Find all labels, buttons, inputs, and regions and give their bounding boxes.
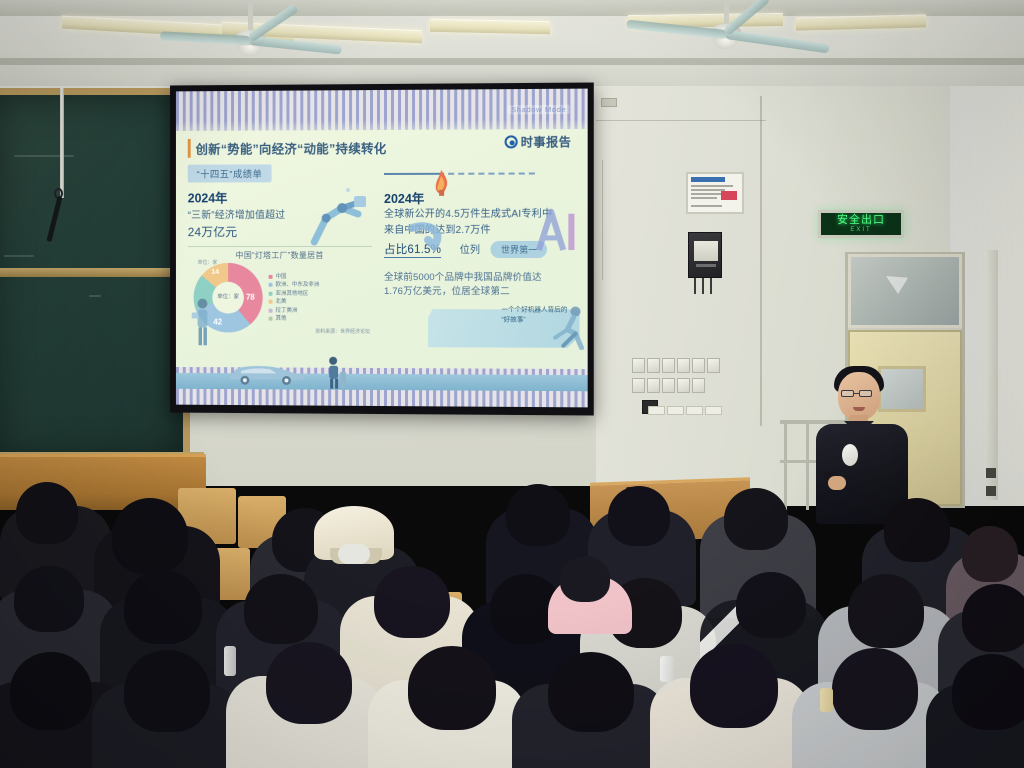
student-head <box>608 486 670 546</box>
student-head <box>16 482 78 544</box>
projection-screen: 创新“势能”向经济“动能”持续转化 Shadow Mode 时事报告 “十四五”… <box>170 82 594 415</box>
slide-content: 创新“势能”向经济“动能”持续转化 Shadow Mode 时事报告 “十四五”… <box>176 129 588 369</box>
right-para2-line1: 全球前5000个品牌中我国品牌价值达 <box>384 271 575 285</box>
student-head <box>124 650 210 732</box>
meter-wire <box>702 278 704 294</box>
student-head <box>952 654 1024 730</box>
exit-sign: 安全出口 EXIT <box>818 210 904 238</box>
donut-value-0: 78 <box>246 293 255 302</box>
person-illustration <box>190 297 216 349</box>
student-head <box>560 556 610 602</box>
legend-item: 拉丁美洲 <box>269 306 320 315</box>
wall-seam <box>760 96 762 426</box>
donut-value-2: 14 <box>211 269 219 276</box>
student-head <box>690 644 778 728</box>
student-head <box>832 648 918 730</box>
legend-item: 欧洲、中东及非洲 <box>269 281 320 290</box>
runner-illustration <box>551 303 588 350</box>
legend-item: 中国 <box>269 272 320 281</box>
slide-left-column: “十四五”成绩单 2024年 “三新”经济增加值超过 24万亿元 <box>188 164 372 333</box>
donut-center-label: 单位：家 <box>217 294 239 301</box>
right-year: 2024年 <box>384 187 575 207</box>
pedestrian-illustration <box>324 356 346 390</box>
student-head <box>124 570 202 644</box>
ai-letter-illustration <box>531 206 580 254</box>
student-head <box>112 498 188 574</box>
left-pill: “十四五”成绩单 <box>188 164 271 182</box>
student-head <box>884 498 950 562</box>
chart-body: 78 42 14 单位：家 中国 欧洲、中东及非洲 亚洲其他地区 北美 <box>188 263 372 333</box>
rank-prefix: 位列 <box>460 245 481 256</box>
wall-vent <box>601 98 617 107</box>
light-switch-panel[interactable] <box>632 358 724 404</box>
presenter-badge <box>842 444 858 466</box>
student-head <box>962 584 1024 652</box>
student-head <box>736 572 806 638</box>
legend-item: 北美 <box>269 298 320 307</box>
exit-sign-en: EXIT <box>850 226 871 234</box>
wall-seam <box>602 160 603 280</box>
robot-arm-illustration <box>308 188 368 246</box>
brand-logo: 时事报告 <box>505 133 572 150</box>
right-rule <box>384 164 575 183</box>
student-head <box>266 642 352 724</box>
meter-wire <box>694 278 696 294</box>
legend-label: 中国 <box>276 272 287 280</box>
eyeglasses-right-lens <box>859 390 872 397</box>
ceiling-fan <box>150 0 350 60</box>
slide-columns: “十四五”成绩单 2024年 “三新”经济增加值超过 24万亿元 <box>188 163 576 333</box>
water-bottle[interactable] <box>224 646 236 676</box>
wall-conduit <box>985 250 998 500</box>
switch-labels <box>648 406 722 415</box>
ceiling-fan <box>610 0 840 60</box>
eyeglasses-bridge <box>854 393 859 394</box>
drink-cup[interactable] <box>820 688 833 712</box>
legend-label: 北美 <box>276 298 287 306</box>
meter-wire <box>710 278 712 294</box>
chart-source-note: 资料来源：世界经济论坛 <box>315 328 370 335</box>
chart-card: 中国“灯塔工厂”数量居首 单位：家 78 42 14 单位：家 <box>188 246 372 333</box>
water-bottle[interactable] <box>660 656 674 682</box>
classroom-scene: 安全出口 EXIT 创新“势能”向经济“动能”持续转化 Shadow Mode <box>0 0 1024 768</box>
legend-label: 亚洲其他地区 <box>276 289 309 298</box>
chalkboard <box>0 88 190 468</box>
student-head <box>244 574 318 644</box>
chalkboard-divider <box>0 268 190 277</box>
legend-label: 拉丁美洲 <box>276 306 298 315</box>
transom-window <box>848 254 962 328</box>
student-head <box>408 646 496 730</box>
audience <box>0 470 1024 768</box>
cap-strap <box>338 544 370 564</box>
student-head <box>506 484 570 546</box>
student-head <box>14 566 84 632</box>
eyeglasses-left-lens <box>841 390 854 397</box>
right-para2-line2: 1.76万亿美元，位居全球第二 <box>384 285 575 299</box>
exit-sign-cn: 安全出口 <box>837 215 885 226</box>
legend-label: 其他 <box>276 315 287 323</box>
wall-seam <box>596 120 766 121</box>
wall-notice <box>686 172 744 214</box>
pull-cord[interactable] <box>60 88 64 198</box>
student-head <box>548 652 634 732</box>
student-head <box>10 652 92 730</box>
slide-right-column: 2024年 全球新公开的4.5万件生成式AI专利中 来自中国的达到2.7万件 占… <box>380 163 575 333</box>
student-head <box>848 574 924 648</box>
legend-item: 其他 <box>269 315 320 324</box>
projected-image: 创新“势能”向经济“动能”持续转化 Shadow Mode 时事报告 “十四五”… <box>176 89 588 408</box>
student-head <box>724 488 788 550</box>
arrow-swirl-illustration <box>408 222 452 256</box>
torch-flame-icon <box>430 170 452 196</box>
electric-meter <box>688 232 722 278</box>
chart-legend: 中国 欧洲、中东及非洲 亚洲其他地区 北美 拉丁美洲 其他 <box>269 272 320 323</box>
fluorescent-light <box>430 19 550 35</box>
watermark-label: Shadow Mode <box>508 105 569 114</box>
eye-icon <box>505 135 518 148</box>
legend-label: 欧洲、中东及非洲 <box>276 281 320 290</box>
brand-name: 时事报告 <box>521 133 572 150</box>
car-illustration <box>225 363 308 385</box>
student-head <box>962 526 1018 582</box>
legend-item: 亚洲其他地区 <box>269 289 320 298</box>
student-head <box>374 566 450 638</box>
